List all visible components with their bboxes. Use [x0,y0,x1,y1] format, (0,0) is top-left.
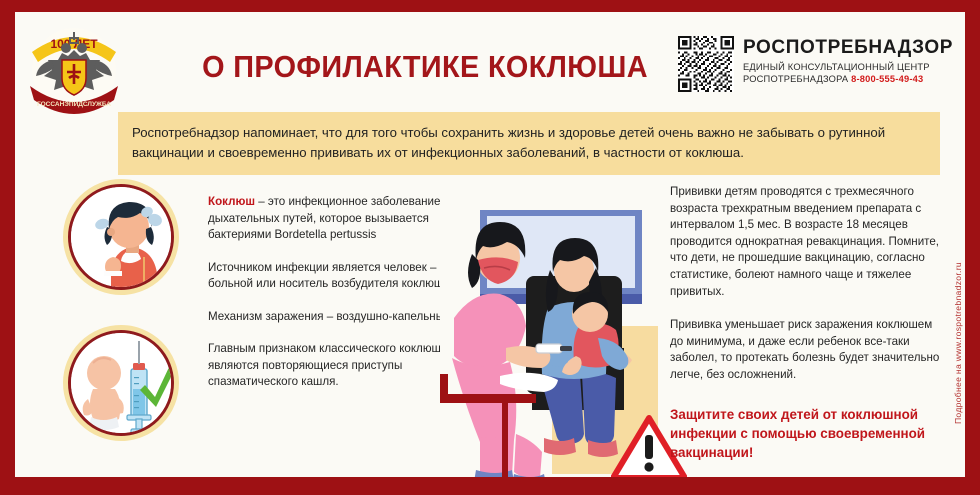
qr-code-icon [678,36,734,92]
notice-banner: Роспотребнадзор напоминает, что для того… [118,112,940,175]
poster-content: 100 ЛЕТ ГОССАНЭПИДСЛУЖБА О ПРОФИЛА [15,12,965,477]
agency-name: РОСПОТРЕБНАДЗОР [743,38,953,58]
source-paragraph: Источником инфекции является человек – б… [208,260,456,293]
hotline-phone[interactable]: 8-800-555-49-43 [851,74,923,84]
website-url-vertical[interactable]: Подробнее на www.rospotrebnadzor.ru [953,262,963,424]
agency-subtitle-line2-row: РОСПОТРЕБНАДЗОРА 8-800-555-49-43 [743,74,953,86]
agency-subtitle-line2: РОСПОТРЕБНАДЗОРА [743,74,848,84]
benefit-paragraph: Прививка уменьшает риск заражения коклюш… [670,317,945,383]
circle-inner-ring [68,184,174,290]
keyword-pertussis: Коклюш [208,195,255,208]
agency-block: РОСПОТРЕБНАДЗОР ЕДИНЫЙ КОНСУЛЬТАЦИОННЫЙ … [678,36,953,92]
svg-text:ГОССАНЭПИДСЛУЖБА: ГОССАНЭПИДСЛУЖБА [37,101,111,108]
left-text-column: Коклюш – это инфекционное заболевание ды… [208,194,456,391]
call-to-action: Защитите своих детей от коклюшной инфекц… [670,405,950,462]
transmission-paragraph: Механизм заражения – воздушно-капельный [208,309,456,326]
agency-subtitle-line1: ЕДИНЫЙ КОНСУЛЬТАЦИОННЫЙ ЦЕНТР [743,62,953,74]
definition-paragraph: Коклюш – это инфекционное заболевание ды… [208,194,456,244]
right-text-column: Прививки детям проводятся с трехмесячног… [670,184,945,401]
symptom-paragraph: Главным признаком классического коклюша … [208,341,456,391]
agency-subtitle: ЕДИНЫЙ КОНСУЛЬТАЦИОННЫЙ ЦЕНТР РОСПОТРЕБН… [743,62,953,85]
illustration-coughing-girl [63,179,179,295]
page-title: О ПРОФИЛАКТИКЕ КОКЛЮША [193,50,658,84]
schedule-paragraph: Прививки детям проводятся с трехмесячног… [670,184,945,300]
agency-text: РОСПОТРЕБНАДЗОР ЕДИНЫЙ КОНСУЛЬТАЦИОННЫЙ … [743,36,953,85]
illustration-baby-vaccination [63,325,179,441]
rospotrebnadzor-emblem: 100 ЛЕТ ГОССАНЭПИДСЛУЖБА [22,20,126,120]
poster-root: 100 ЛЕТ ГОССАНЭПИДСЛУЖБА О ПРОФИЛА [0,0,980,495]
circle-inner-ring [68,330,174,436]
